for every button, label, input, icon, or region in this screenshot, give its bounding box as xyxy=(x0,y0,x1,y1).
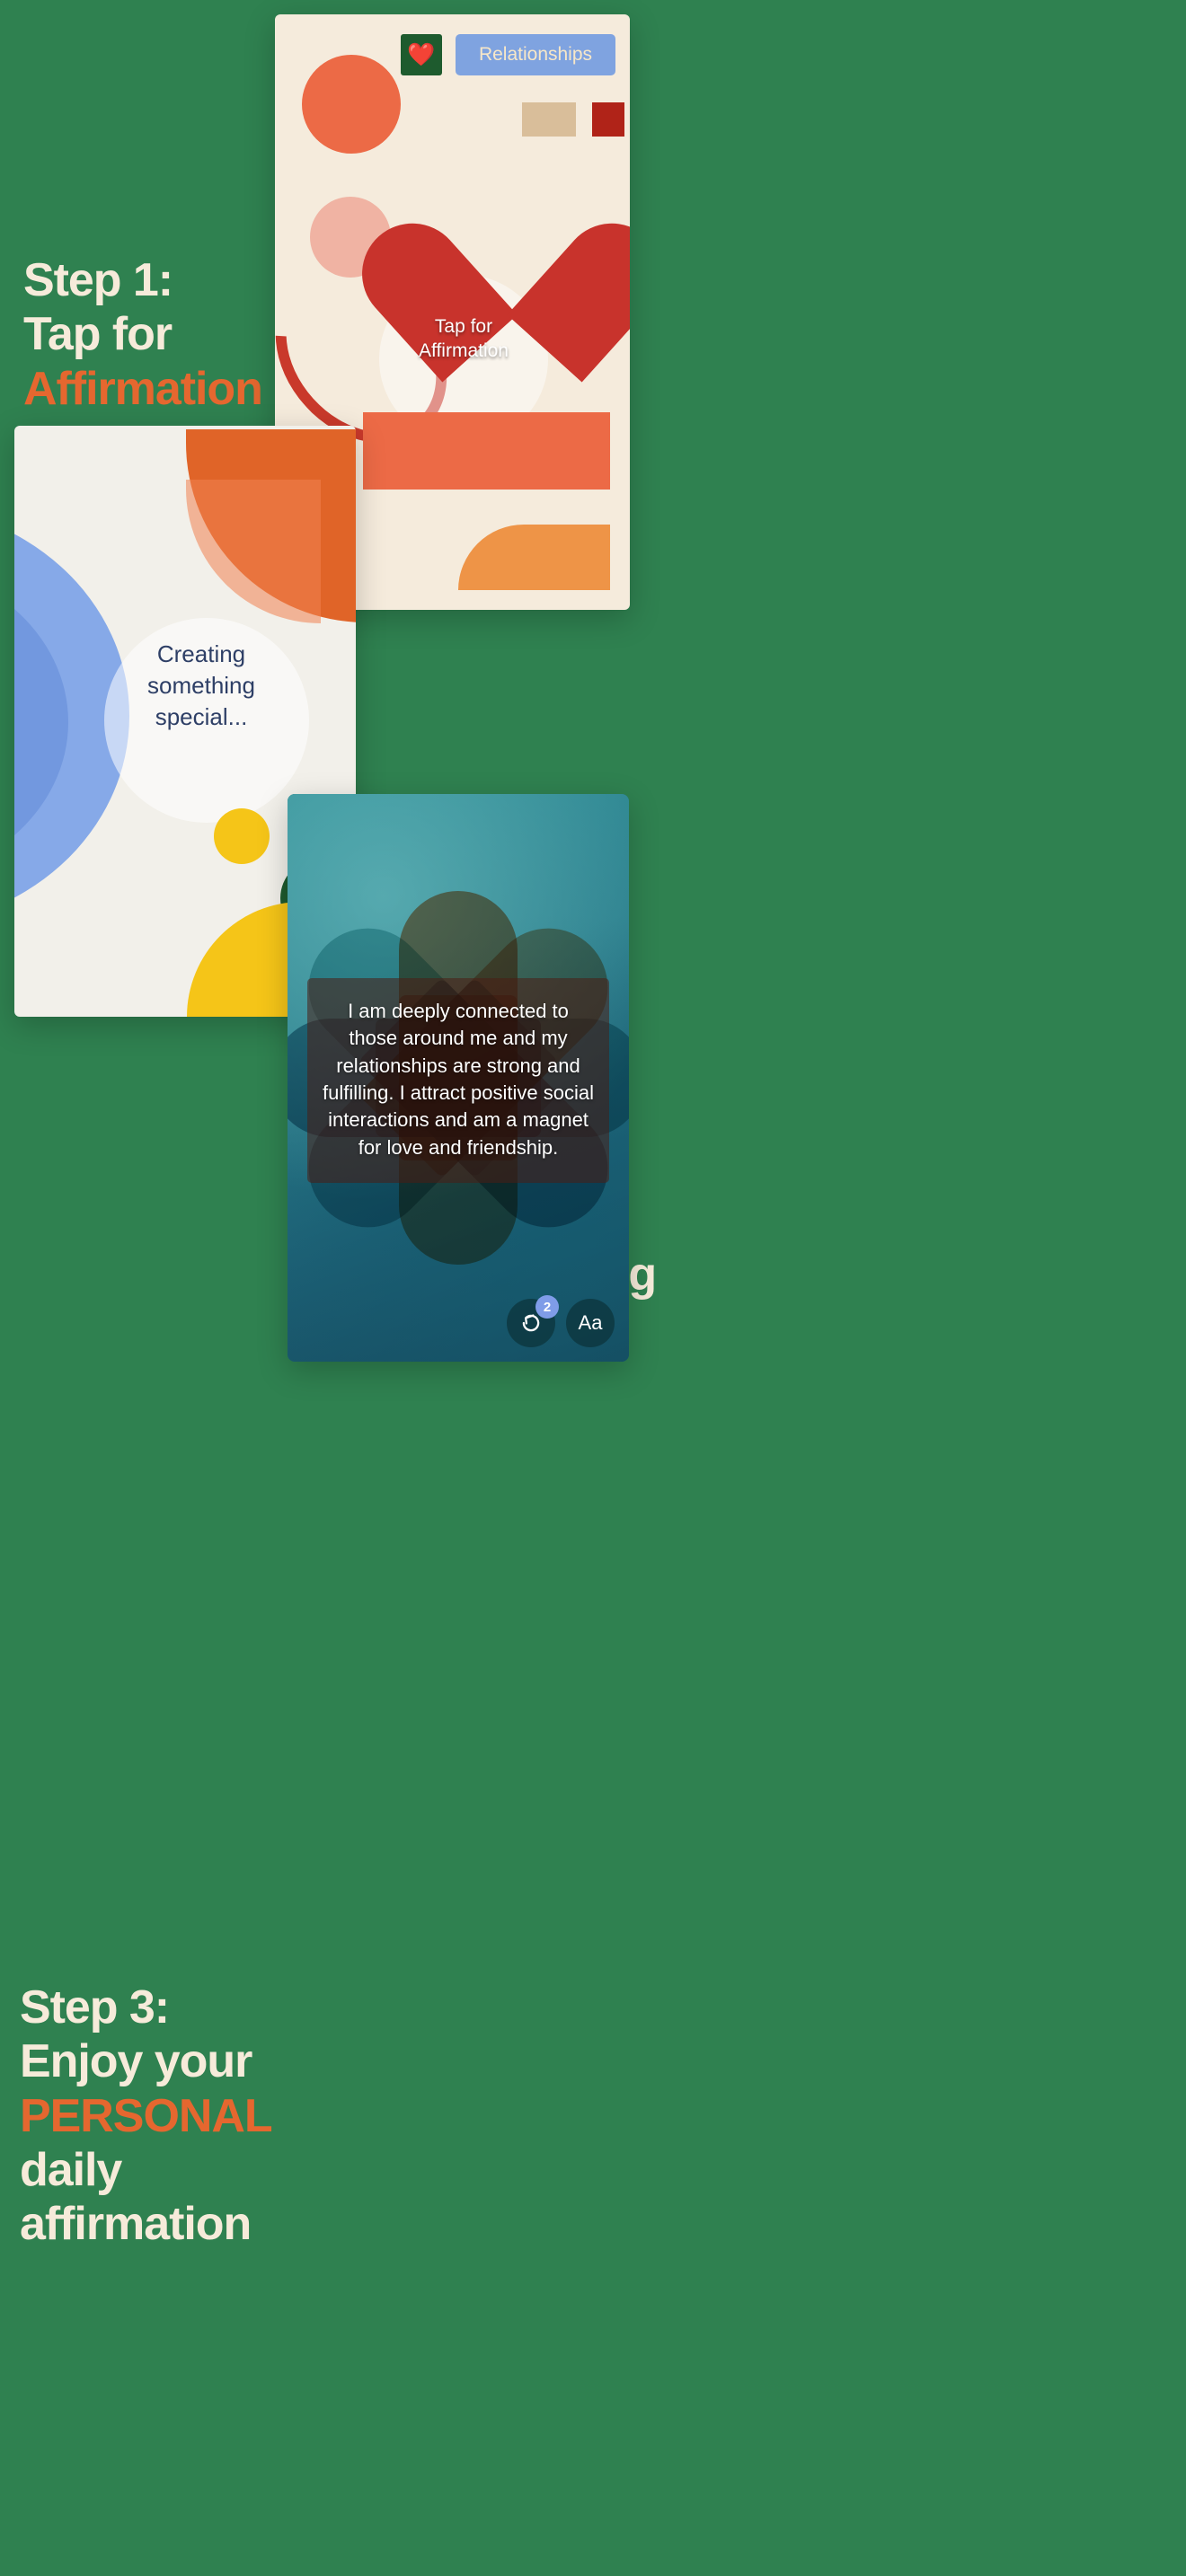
tap-for-affirmation-cta[interactable]: Tap for Affirmation xyxy=(376,315,552,364)
card-toolbar: 2 Aa xyxy=(507,1299,615,1347)
loading-line-2: something xyxy=(66,670,336,701)
loading-line-3: special... xyxy=(66,701,336,733)
loading-message: Creating something special... xyxy=(66,639,336,732)
cta-line-2: Affirmation xyxy=(376,340,552,364)
step-1-line-3: Affirmation xyxy=(23,362,262,416)
text-size-button[interactable]: Aa xyxy=(566,1299,615,1347)
promo-screen: Step 1: Tap for Affirmation Tap for Affi… xyxy=(0,0,1186,2576)
color-swatch-red[interactable] xyxy=(592,102,624,137)
loading-line-1: Creating xyxy=(66,639,336,670)
text-size-icon: Aa xyxy=(579,1311,603,1335)
step-3-line-3: PERSONAL xyxy=(20,2089,272,2143)
affirmation-result-card[interactable]: I am deeply connected to those around me… xyxy=(288,794,629,1362)
step-1-line-2: Tap for xyxy=(23,307,262,361)
decor-arc-orange-soft xyxy=(186,480,321,623)
decor-dot-yellow xyxy=(214,808,270,864)
decor-bar-orange xyxy=(363,412,610,490)
step-3-line-1: Step 3: xyxy=(20,1981,272,2034)
color-swatch-tan[interactable] xyxy=(522,102,576,137)
step-3-line-5: affirmation xyxy=(20,2197,272,2251)
step-3-line-2: Enjoy your xyxy=(20,2034,272,2088)
step-1-headline: Step 1: Tap for Affirmation xyxy=(23,253,262,416)
step-1-line-1: Step 1: xyxy=(23,253,262,307)
heart-emoji-icon: ❤️ xyxy=(401,34,442,75)
regenerate-button[interactable]: 2 xyxy=(507,1299,555,1347)
decor-quarter-orange xyxy=(458,525,610,590)
affirmation-text: I am deeply connected to those around me… xyxy=(307,978,609,1183)
step-3-line-4: daily xyxy=(20,2143,272,2197)
regenerate-count-badge: 2 xyxy=(535,1295,559,1319)
step-3-headline: Step 3: Enjoy your PERSONAL daily affirm… xyxy=(20,1981,272,2252)
category-badge[interactable]: Relationships xyxy=(456,34,615,75)
builder-header: ❤️ Relationships xyxy=(275,34,630,75)
cta-line-1: Tap for xyxy=(376,315,552,340)
